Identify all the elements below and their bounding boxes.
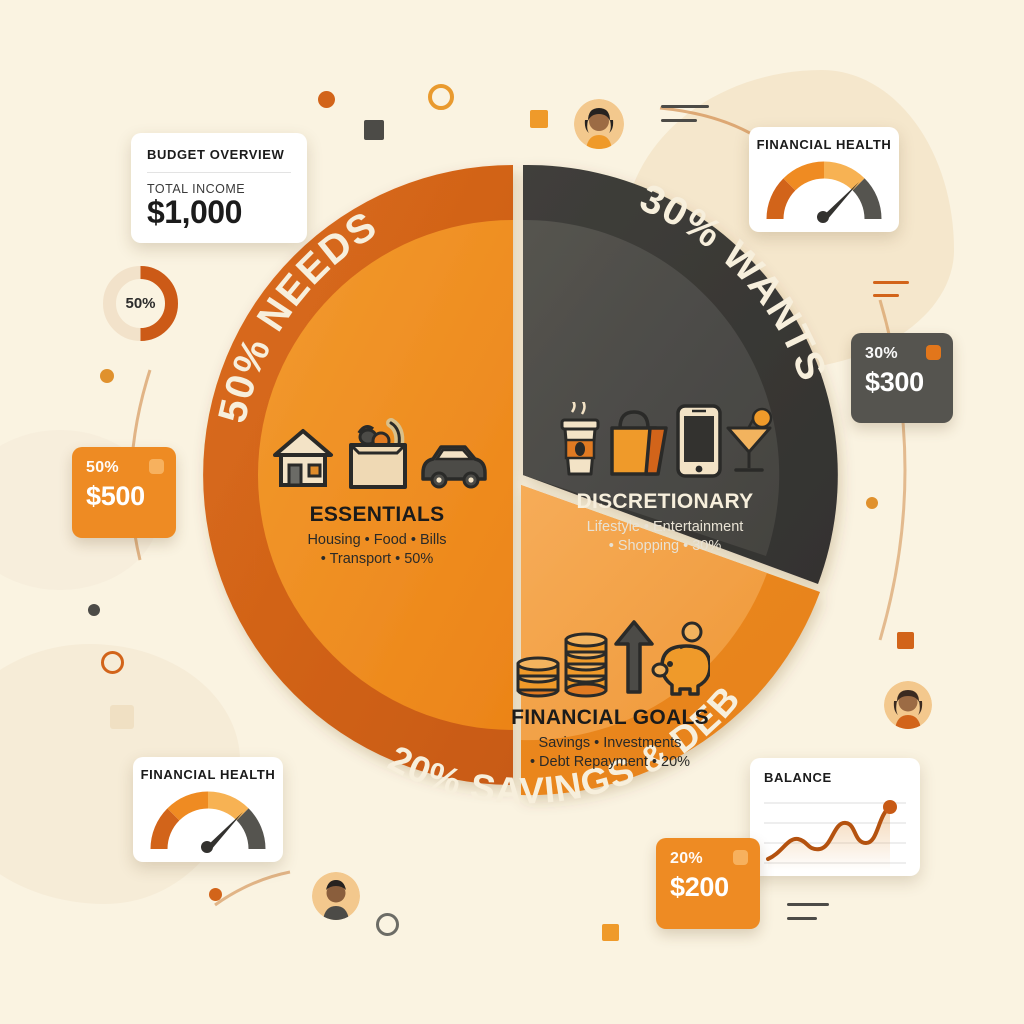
budget-card-title: BUDGET OVERVIEW (147, 147, 291, 162)
balance-card[interactable]: BALANCE (750, 758, 920, 876)
coin-stack-icon (518, 634, 606, 696)
deco-dot (100, 369, 114, 383)
avatar[interactable] (574, 99, 624, 149)
chip-percent: 30% (865, 345, 939, 363)
deco-line (787, 903, 829, 906)
financial-health-card-bottom[interactable]: FINANCIAL HEALTH (133, 757, 283, 862)
deco-ring (376, 913, 399, 936)
deco-dot (866, 497, 878, 509)
up-arrow-icon (616, 622, 652, 692)
gauge-icon (765, 161, 883, 223)
house-icon (275, 431, 331, 485)
budget-pie-chart: 50% NEEDS 30% WANTS 20% SAVINGS & DEBT (180, 140, 860, 840)
gauge-icon (149, 791, 267, 853)
shopping-bag-icon (612, 412, 666, 474)
chip-amount: $500 (86, 481, 162, 512)
segment-content-savings: FINANCIAL GOALS Savings • Investments • … (485, 620, 735, 772)
avatar[interactable] (312, 872, 360, 920)
wants-icon-row (550, 402, 780, 482)
deco-line (873, 281, 909, 284)
deco-ring (101, 651, 124, 674)
donut-value: 50% (101, 264, 180, 343)
avatar[interactable] (884, 681, 932, 729)
avatar-icon (312, 872, 360, 920)
deco-square (602, 924, 619, 941)
savings-icon-row (510, 620, 710, 698)
chip-percent: 50% (86, 459, 162, 477)
financial-health-title: FINANCIAL HEALTH (749, 137, 899, 152)
chip-amount: $300 (865, 367, 939, 398)
deco-line (661, 105, 709, 108)
total-income-value: $1,000 (147, 194, 291, 231)
segment-content-wants: DISCRETIONARY Lifestyle • Entertainment … (535, 402, 795, 556)
piggy-bank-icon (653, 623, 710, 694)
infographic-canvas: 50% NEEDS 30% WANTS 20% SAVINGS & DEBT (0, 0, 1024, 1024)
segment-content-needs: ESSENTIALS Housing • Food • Bills • Tran… (252, 415, 502, 569)
smartphone-icon (678, 406, 720, 476)
coffee-cup-icon (562, 402, 598, 474)
chip-amount: $200 (670, 872, 746, 903)
deco-line (873, 294, 899, 297)
deco-dot (88, 604, 100, 616)
value-chip-wants[interactable]: 30% $300 (851, 333, 953, 423)
cocktail-icon (728, 409, 771, 470)
deco-line (661, 119, 697, 122)
grocery-bag-icon (351, 423, 405, 487)
needs-icon-row (267, 415, 487, 495)
deco-square (530, 110, 548, 128)
savings-detail-line-1: Savings • Investments (485, 734, 735, 753)
financial-health-card-top[interactable]: FINANCIAL HEALTH (749, 127, 899, 232)
balance-card-title: BALANCE (764, 770, 906, 785)
car-icon (423, 447, 485, 487)
deco-square (364, 120, 384, 140)
wants-detail-line-1: Lifestyle • Entertainment (535, 518, 795, 537)
chip-percent: 20% (670, 850, 746, 868)
deco-square (897, 632, 914, 649)
deco-ring (428, 84, 454, 110)
avatar-icon (884, 681, 932, 729)
value-chip-needs[interactable]: 50% $500 (72, 447, 176, 538)
deco-dot (209, 888, 222, 901)
budget-overview-card[interactable]: BUDGET OVERVIEW TOTAL INCOME $1,000 (131, 133, 307, 243)
wants-detail-line-2: • Shopping • 30% (535, 537, 795, 556)
needs-detail-line-2: • Transport • 50% (252, 550, 502, 569)
avatar-icon (574, 99, 624, 149)
chart-endpoint-dot (883, 800, 897, 814)
savings-heading: FINANCIAL GOALS (485, 706, 735, 730)
balance-line-chart (764, 793, 906, 871)
savings-detail-line-2: • Debt Repayment • 20% (485, 753, 735, 772)
needs-heading: ESSENTIALS (252, 503, 502, 527)
needs-detail-line-1: Housing • Food • Bills (252, 531, 502, 550)
divider (147, 172, 291, 173)
financial-health-title: FINANCIAL HEALTH (133, 767, 283, 782)
deco-dot (318, 91, 335, 108)
value-chip-savings[interactable]: 20% $200 (656, 838, 760, 929)
deco-line (787, 917, 817, 920)
wants-heading: DISCRETIONARY (535, 490, 795, 514)
deco-square (110, 705, 134, 729)
progress-donut[interactable]: 50% (101, 264, 180, 343)
